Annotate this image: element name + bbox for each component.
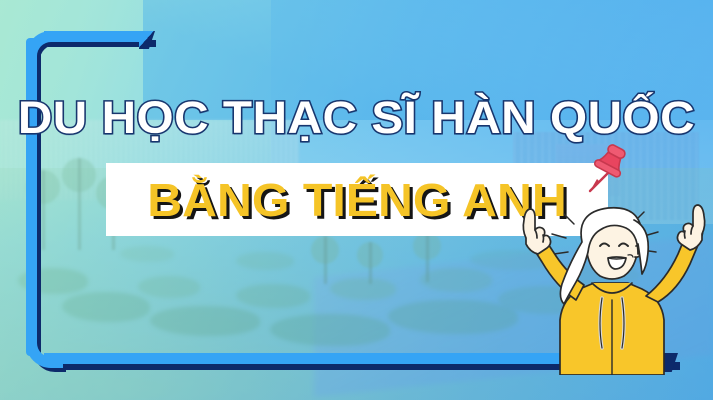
pushpin-icon <box>586 138 632 194</box>
banner-title: DU HỌC THẠC SĨ HÀN QUỐC <box>0 92 713 144</box>
promo-banner: DU HỌC THẠC SĨ HÀN QUỐC BẰNG TIẾNG ANH <box>0 0 713 400</box>
cheering-student-illustration <box>516 200 712 375</box>
